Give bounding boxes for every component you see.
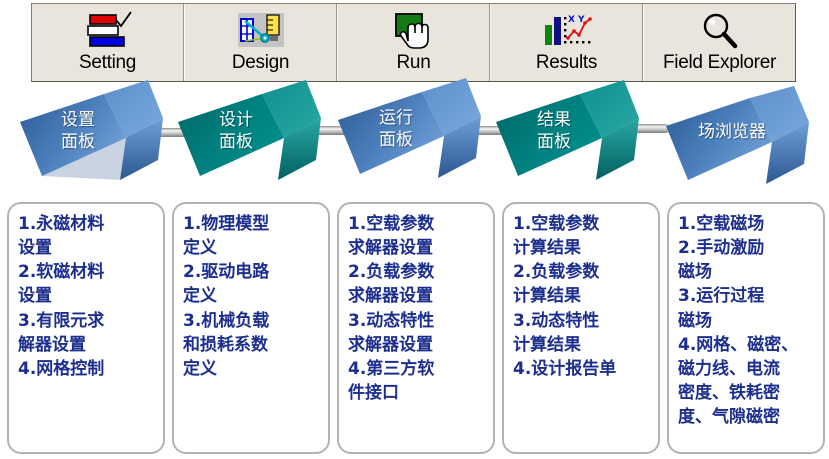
detail-panel-setting[interactable]: 1.永磁材料 设置 2.软磁材料 设置 3.有限元求 解器设置 4.网格控制 [7, 202, 165, 454]
detail-panel-text: 1.空载磁场 2.手动激励 磁场 3.运行过程 磁场 4.网格、磁密、 磁力线、… [678, 212, 817, 429]
toolbar-button-run[interactable]: Run [337, 4, 490, 81]
flow-node-field-explorer[interactable]: 场浏览器 [644, 86, 829, 208]
toolbar-button-results[interactable]: X Y Results [490, 4, 643, 81]
toolbar-button-label: Results [536, 53, 597, 72]
design-ruler-lever-icon [231, 9, 291, 53]
run-hand-click-icon [384, 9, 444, 53]
flow-diagram: 设置 面板 设计 面板 [0, 78, 829, 200]
detail-panel-results[interactable]: 1.空载参数 计算结果 2.负载参数 计算结果 3.动态特性 计算结果 4.设计… [502, 202, 660, 454]
detail-panel-text: 1.永磁材料 设置 2.软磁材料 设置 3.有限元求 解器设置 4.网格控制 [18, 212, 157, 381]
toolbar-button-label: Run [397, 53, 431, 72]
toolbar-button-field-explorer[interactable]: Field Explorer [643, 4, 795, 81]
cube-3d-shape [8, 80, 188, 202]
cube-3d-shape [484, 76, 664, 198]
detail-panel-run[interactable]: 1.空载参数 求解器设置 2.负载参数 求解器设置 3.动态特性 求解器设置 4… [337, 202, 495, 454]
detail-panel-text: 1.空载参数 求解器设置 2.负载参数 求解器设置 3.动态特性 求解器设置 4… [348, 212, 487, 405]
toolbar-button-label: Field Explorer [663, 53, 776, 72]
toolbar-button-label: Setting [79, 53, 136, 72]
settings-bars-check-icon [78, 9, 138, 53]
toolbar-button-label: Design [232, 53, 289, 72]
toolbar-button-setting[interactable]: Setting [32, 4, 184, 81]
svg-text:X: X [568, 15, 575, 25]
magnifier-icon [690, 9, 750, 53]
toolbar-button-design[interactable]: Design [184, 4, 337, 81]
detail-panel-text: 1.物理模型 定义 2.驱动电路 定义 3.机械负载 和损耗系数 定义 [183, 212, 322, 381]
cube-3d-shape [644, 86, 829, 208]
detail-panels-row: 1.永磁材料 设置 2.软磁材料 设置 3.有限元求 解器设置 4.网格控制 1… [7, 202, 825, 454]
detail-panel-text: 1.空载参数 计算结果 2.负载参数 计算结果 3.动态特性 计算结果 4.设计… [513, 212, 652, 381]
cube-3d-shape [326, 78, 506, 200]
detail-panel-field-explorer[interactable]: 1.空载磁场 2.手动激励 磁场 3.运行过程 磁场 4.网格、磁密、 磁力线、… [667, 202, 825, 454]
results-bar-xy-chart-icon: X Y [537, 9, 597, 53]
main-toolbar: Setting Design [31, 3, 796, 82]
detail-panel-design[interactable]: 1.物理模型 定义 2.驱动电路 定义 3.机械负载 和损耗系数 定义 [172, 202, 330, 454]
cube-3d-shape [166, 78, 346, 200]
